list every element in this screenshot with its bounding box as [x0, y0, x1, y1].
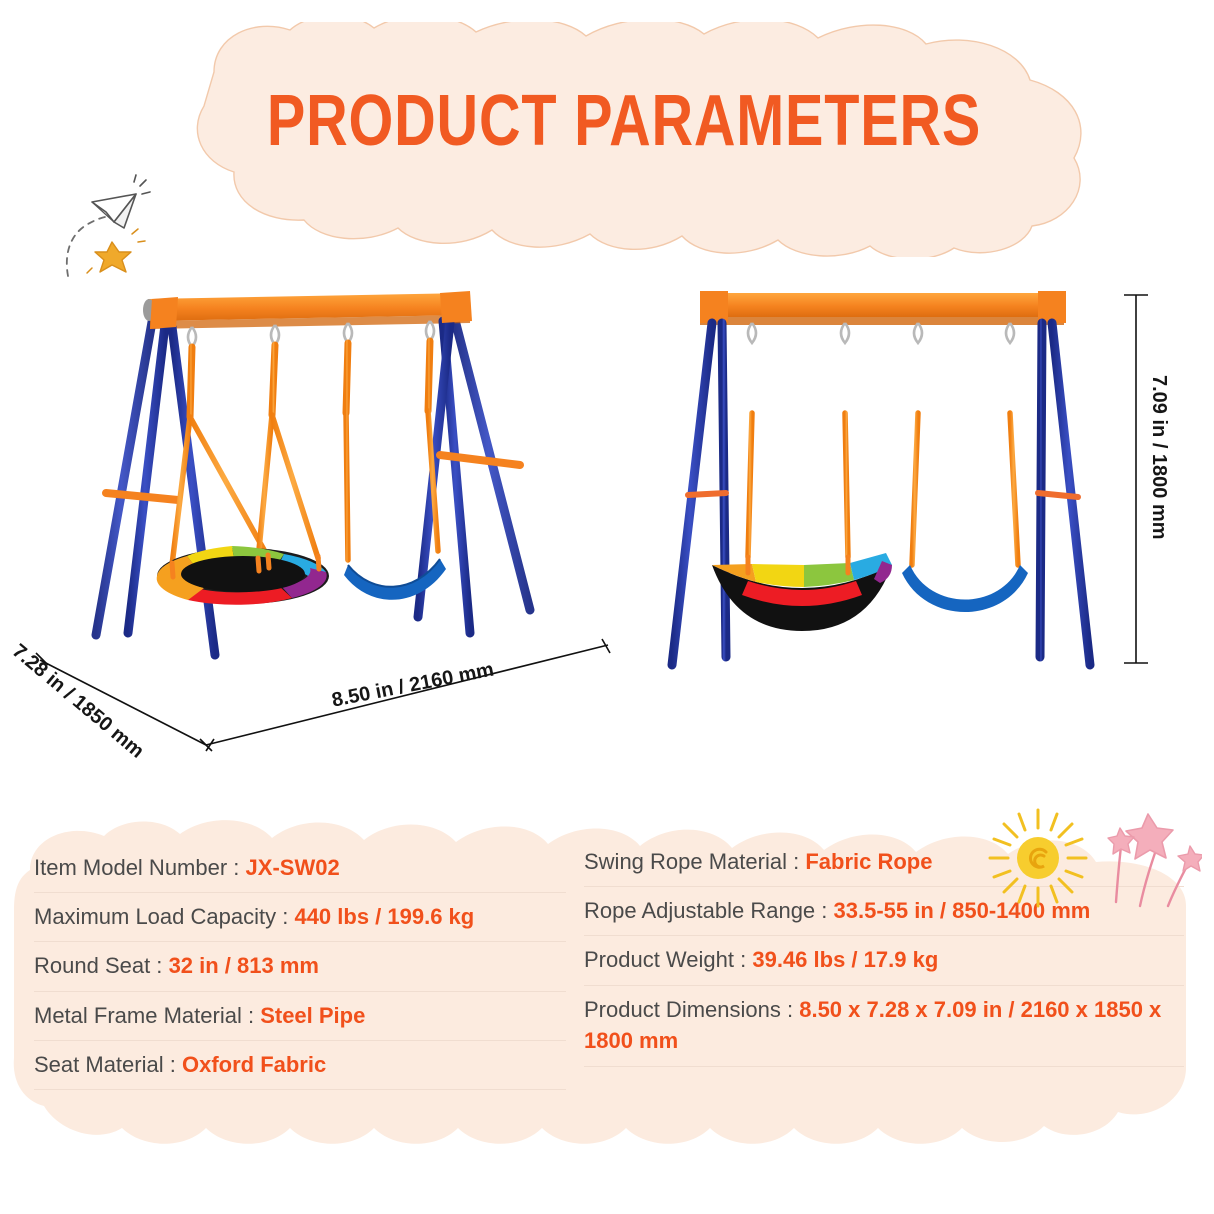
spec-value: Steel Pipe [260, 1003, 365, 1028]
height-dimension-label: 7.09 in / 1800 mm [1147, 375, 1170, 540]
sun-doodle [986, 806, 1090, 910]
title-cloud-banner: PRODUCT PARAMETERS [124, 22, 1124, 257]
spec-value: 39.46 lbs / 17.9 kg [752, 947, 938, 972]
front-view [672, 291, 1148, 665]
spec-value: Oxford Fabric [182, 1052, 326, 1077]
spec-label: Seat Material : [34, 1052, 176, 1077]
saucer-seat-front [712, 553, 892, 631]
spec-label: Item Model Number : [34, 855, 239, 880]
spec-row: Rope Adjustable Range : 33.5-55 in / 850… [584, 887, 1184, 936]
spec-value: 440 lbs / 199.6 kg [294, 904, 474, 929]
spec-row: Round Seat : 32 in / 813 mm [34, 942, 566, 991]
spec-panel: Item Model Number : JX-SW02 Maximum Load… [0, 800, 1214, 1214]
height-dimension-line [1124, 295, 1148, 663]
spec-row: Item Model Number : JX-SW02 [34, 844, 566, 893]
spec-label: Round Seat : [34, 953, 162, 978]
spec-value: 32 in / 813 mm [169, 953, 319, 978]
spec-label: Rope Adjustable Range : [584, 898, 827, 923]
spec-row: Swing Rope Material : Fabric Rope [584, 838, 1184, 887]
product-illustration: 7.28 in / 1850 mm 8.50 in / 2160 mm 7.09… [0, 265, 1214, 805]
spec-value: Fabric Rope [805, 849, 932, 874]
infographic-canvas: PRODUCT PARAMETERS [0, 0, 1214, 1214]
belt-swing-seat [344, 559, 446, 600]
spec-value: JX-SW02 [246, 855, 340, 880]
belt-swing-seat-front [902, 565, 1028, 612]
perspective-view [36, 291, 610, 751]
spec-label: Swing Rope Material : [584, 849, 799, 874]
top-beam [143, 293, 470, 329]
spec-column-left: Item Model Number : JX-SW02 Maximum Load… [0, 800, 566, 1214]
spec-label: Metal Frame Material : [34, 1003, 254, 1028]
swing-set-drawing [0, 265, 1214, 805]
spec-row: Product Weight : 39.46 lbs / 17.9 kg [584, 936, 1184, 985]
sun-icon [986, 806, 1090, 910]
spec-label: Product Weight : [584, 947, 746, 972]
saucer-seat [157, 546, 329, 605]
spec-label: Maximum Load Capacity : [34, 904, 288, 929]
spec-row: Metal Frame Material : Steel Pipe [34, 992, 566, 1041]
page-title: PRODUCT PARAMETERS [224, 80, 1024, 162]
spec-row: Maximum Load Capacity : 440 lbs / 199.6 … [34, 893, 566, 942]
spec-label: Product Dimensions : [584, 997, 793, 1022]
flowers-icon [1098, 802, 1202, 912]
spec-row: Product Dimensions : 8.50 x 7.28 x 7.09 … [584, 986, 1184, 1067]
flower-doodle [1098, 802, 1202, 912]
spec-row: Seat Material : Oxford Fabric [34, 1041, 566, 1090]
